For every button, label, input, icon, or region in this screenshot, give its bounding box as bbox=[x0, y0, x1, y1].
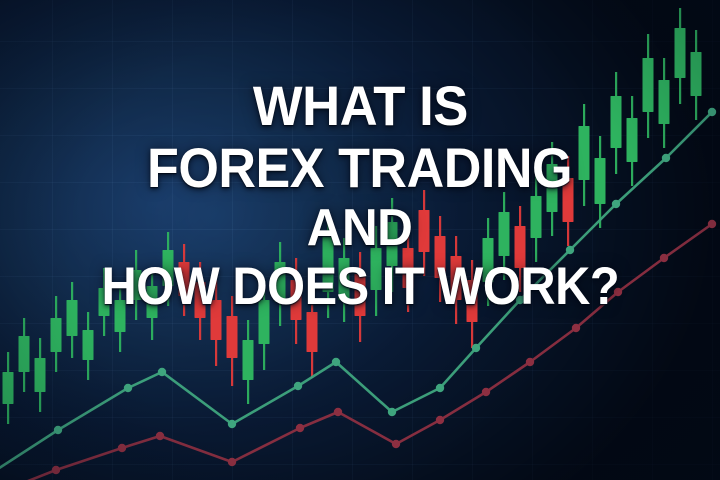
forex-banner-image: WHAT IS FOREX TRADING AND HOW DOES IT WO… bbox=[0, 0, 720, 480]
background-vignette bbox=[0, 0, 720, 480]
